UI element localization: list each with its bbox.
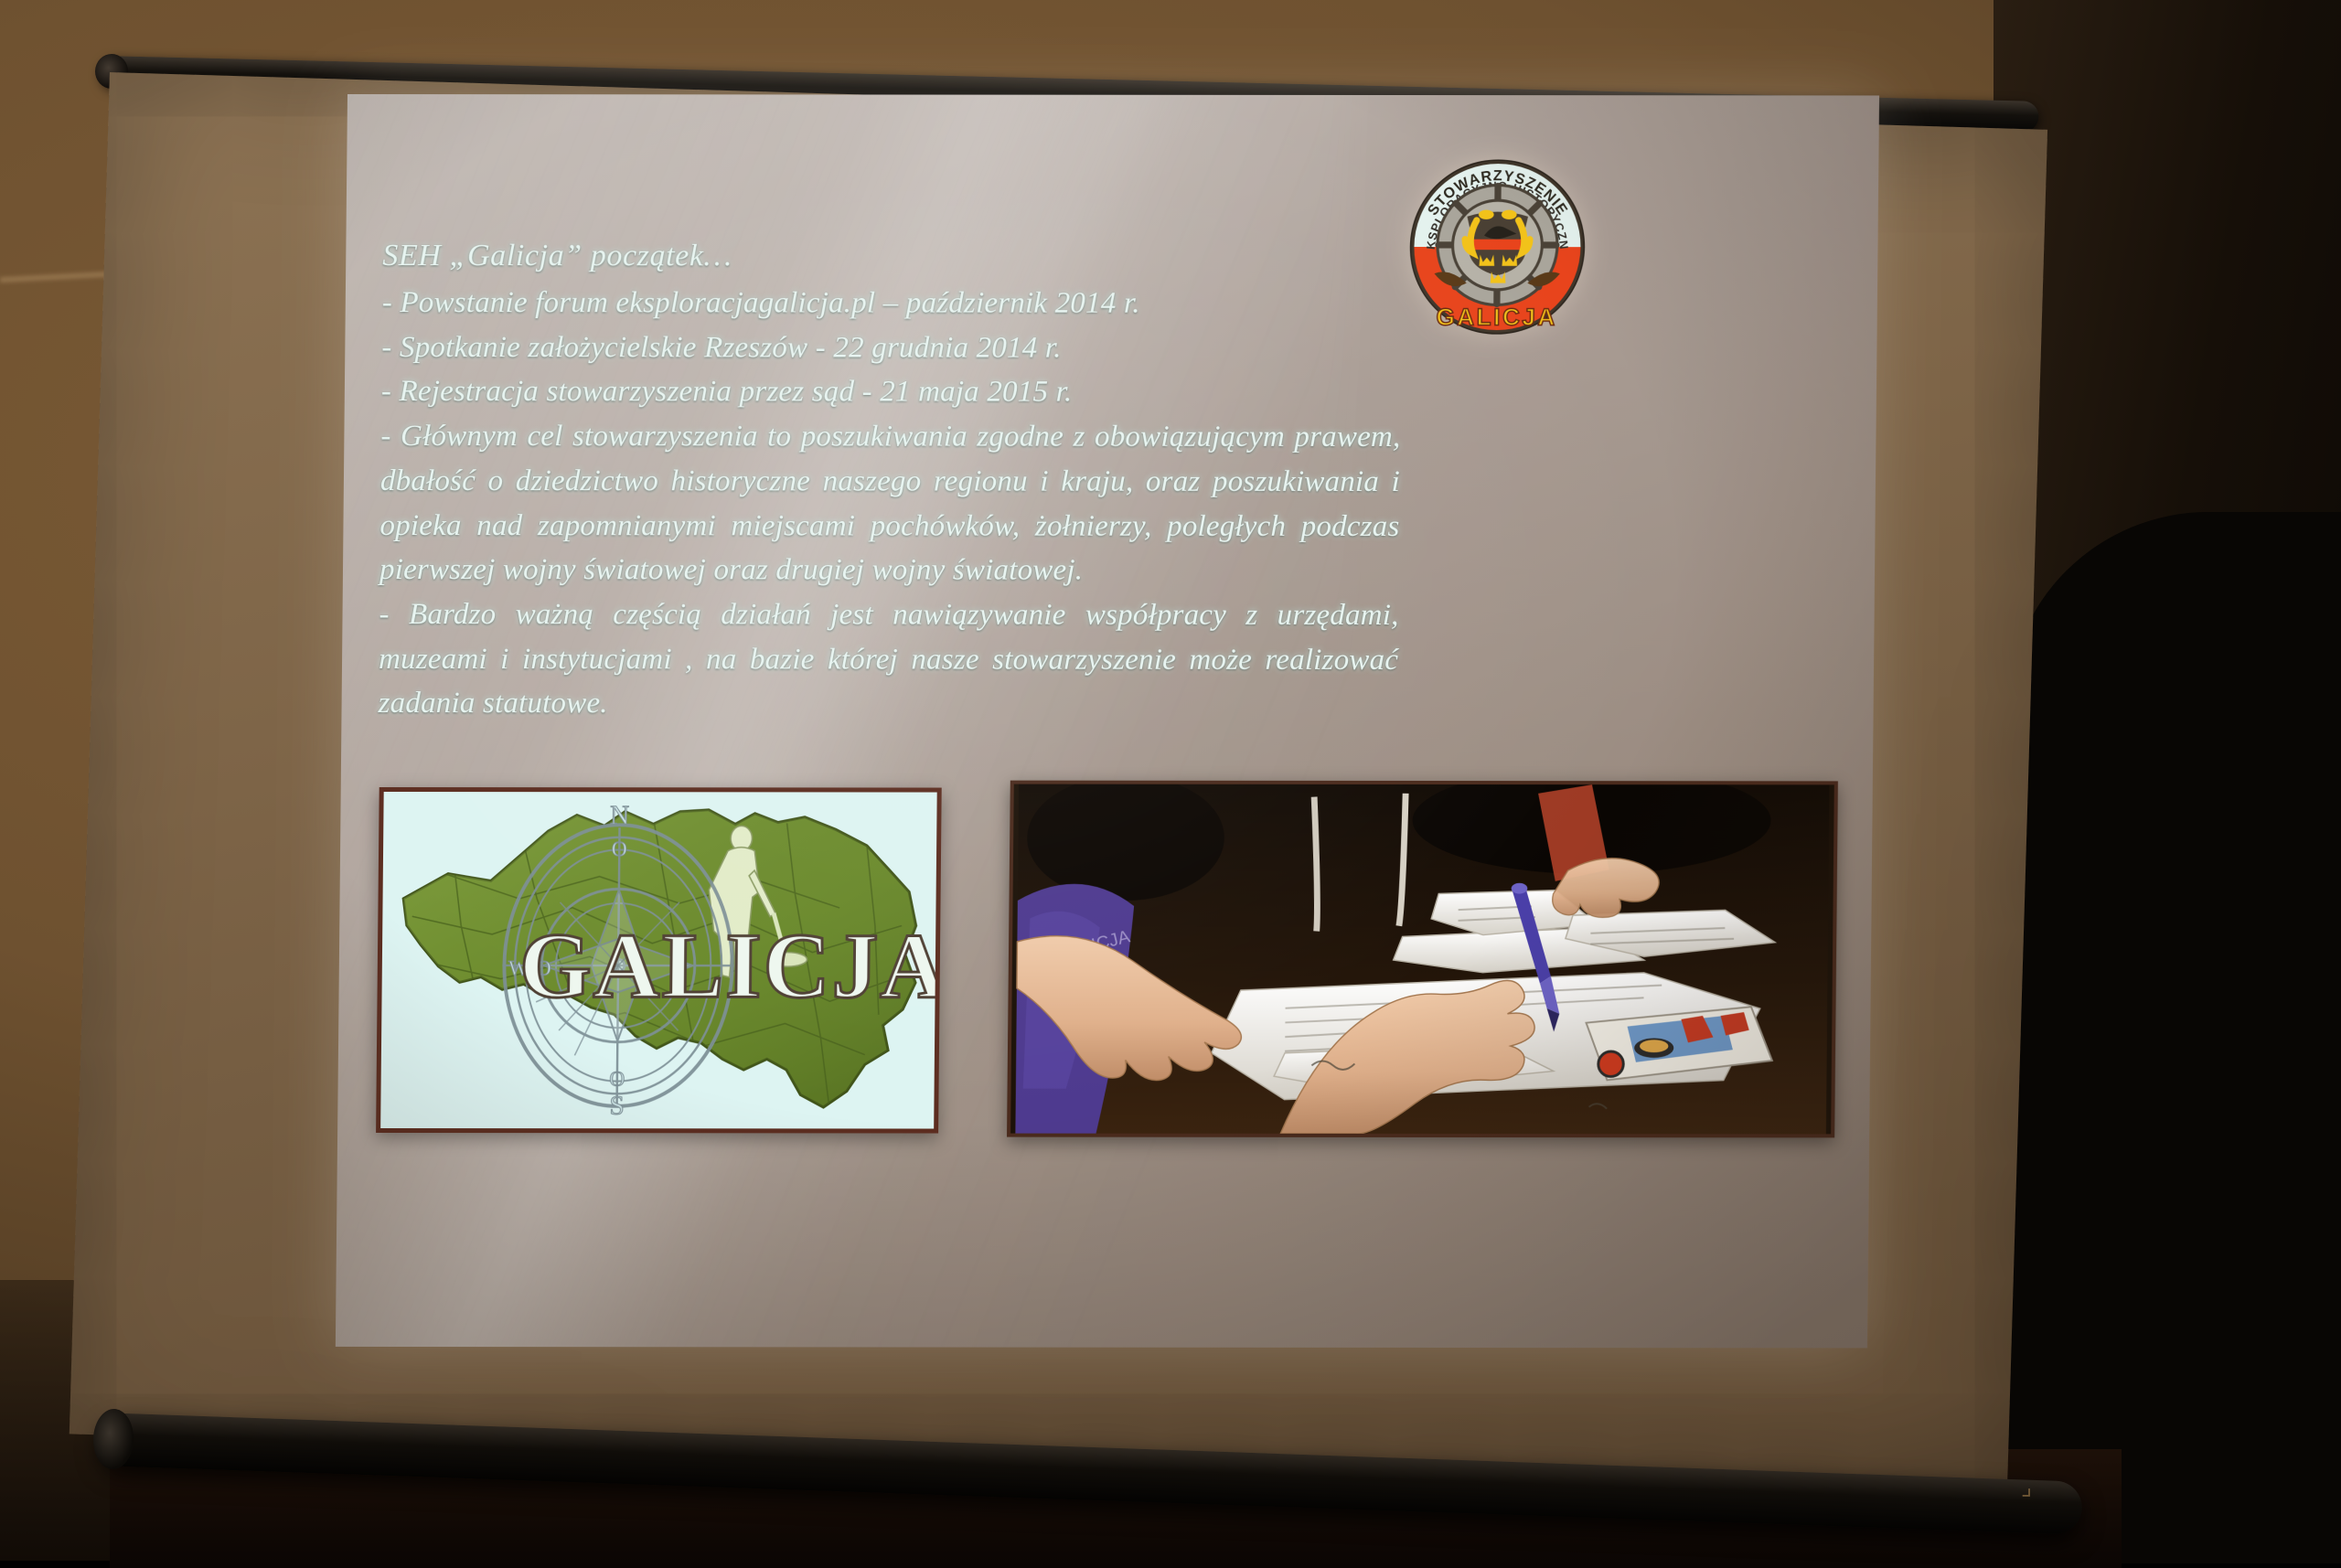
slide-bullet-court-registration: - Rejestracja stowarzyszenia przez sąd -… — [381, 370, 1402, 416]
projector-screen: SEH „Galicja” początek… - Powstanie foru… — [91, 50, 2067, 1513]
slide-bullet-forum: - Powstanie forum eksploracjagalicja.pl … — [382, 281, 1403, 326]
compass-label-s: S — [609, 1092, 625, 1121]
slide-bullet-founding-meeting: - Spotkanie założycielskie Rzeszów - 22 … — [381, 325, 1402, 371]
galicja-logo-image: N S O O W O GALICJA — [376, 787, 942, 1134]
slide-image-row: N S O O W O GALICJA — [376, 780, 1843, 1137]
compass-label-o-top: O — [612, 837, 627, 861]
compass-label-o-bottom: O — [609, 1067, 625, 1091]
slide-paragraph-cooperation: - Bardzo ważną częścią działań jest nawi… — [378, 592, 1398, 727]
slide-text-block: SEH „Galicja” początek… - Powstanie foru… — [378, 233, 1402, 727]
signing-documents-svg: GALICJA — [1010, 784, 1834, 1135]
galicja-wordmark: GALICJA — [518, 914, 936, 1017]
compass-label-n: N — [610, 801, 629, 830]
slide-heading: SEH „Galicja” początek… — [382, 233, 1403, 280]
svg-text:GALICJA: GALICJA — [1436, 303, 1557, 330]
screen-latch-hook: ⌟ — [2021, 1473, 2058, 1504]
signing-documents-photo: GALICJA — [1007, 781, 1838, 1138]
galicja-logo-svg: N S O O W O GALICJA — [380, 792, 937, 1129]
room-background: SEH „Galicja” początek… - Powstanie foru… — [0, 0, 2341, 1561]
projected-slide: SEH „Galicja” początek… - Powstanie foru… — [336, 94, 1879, 1348]
seh-galicja-crest-icon: STOWARZYSZENIE EKSPLORACYJNO-HISTORYCZNE — [1401, 152, 1593, 342]
slide-paragraph-main-goal: - Głównym cel stowarzyszenia to poszukiw… — [379, 414, 1401, 593]
